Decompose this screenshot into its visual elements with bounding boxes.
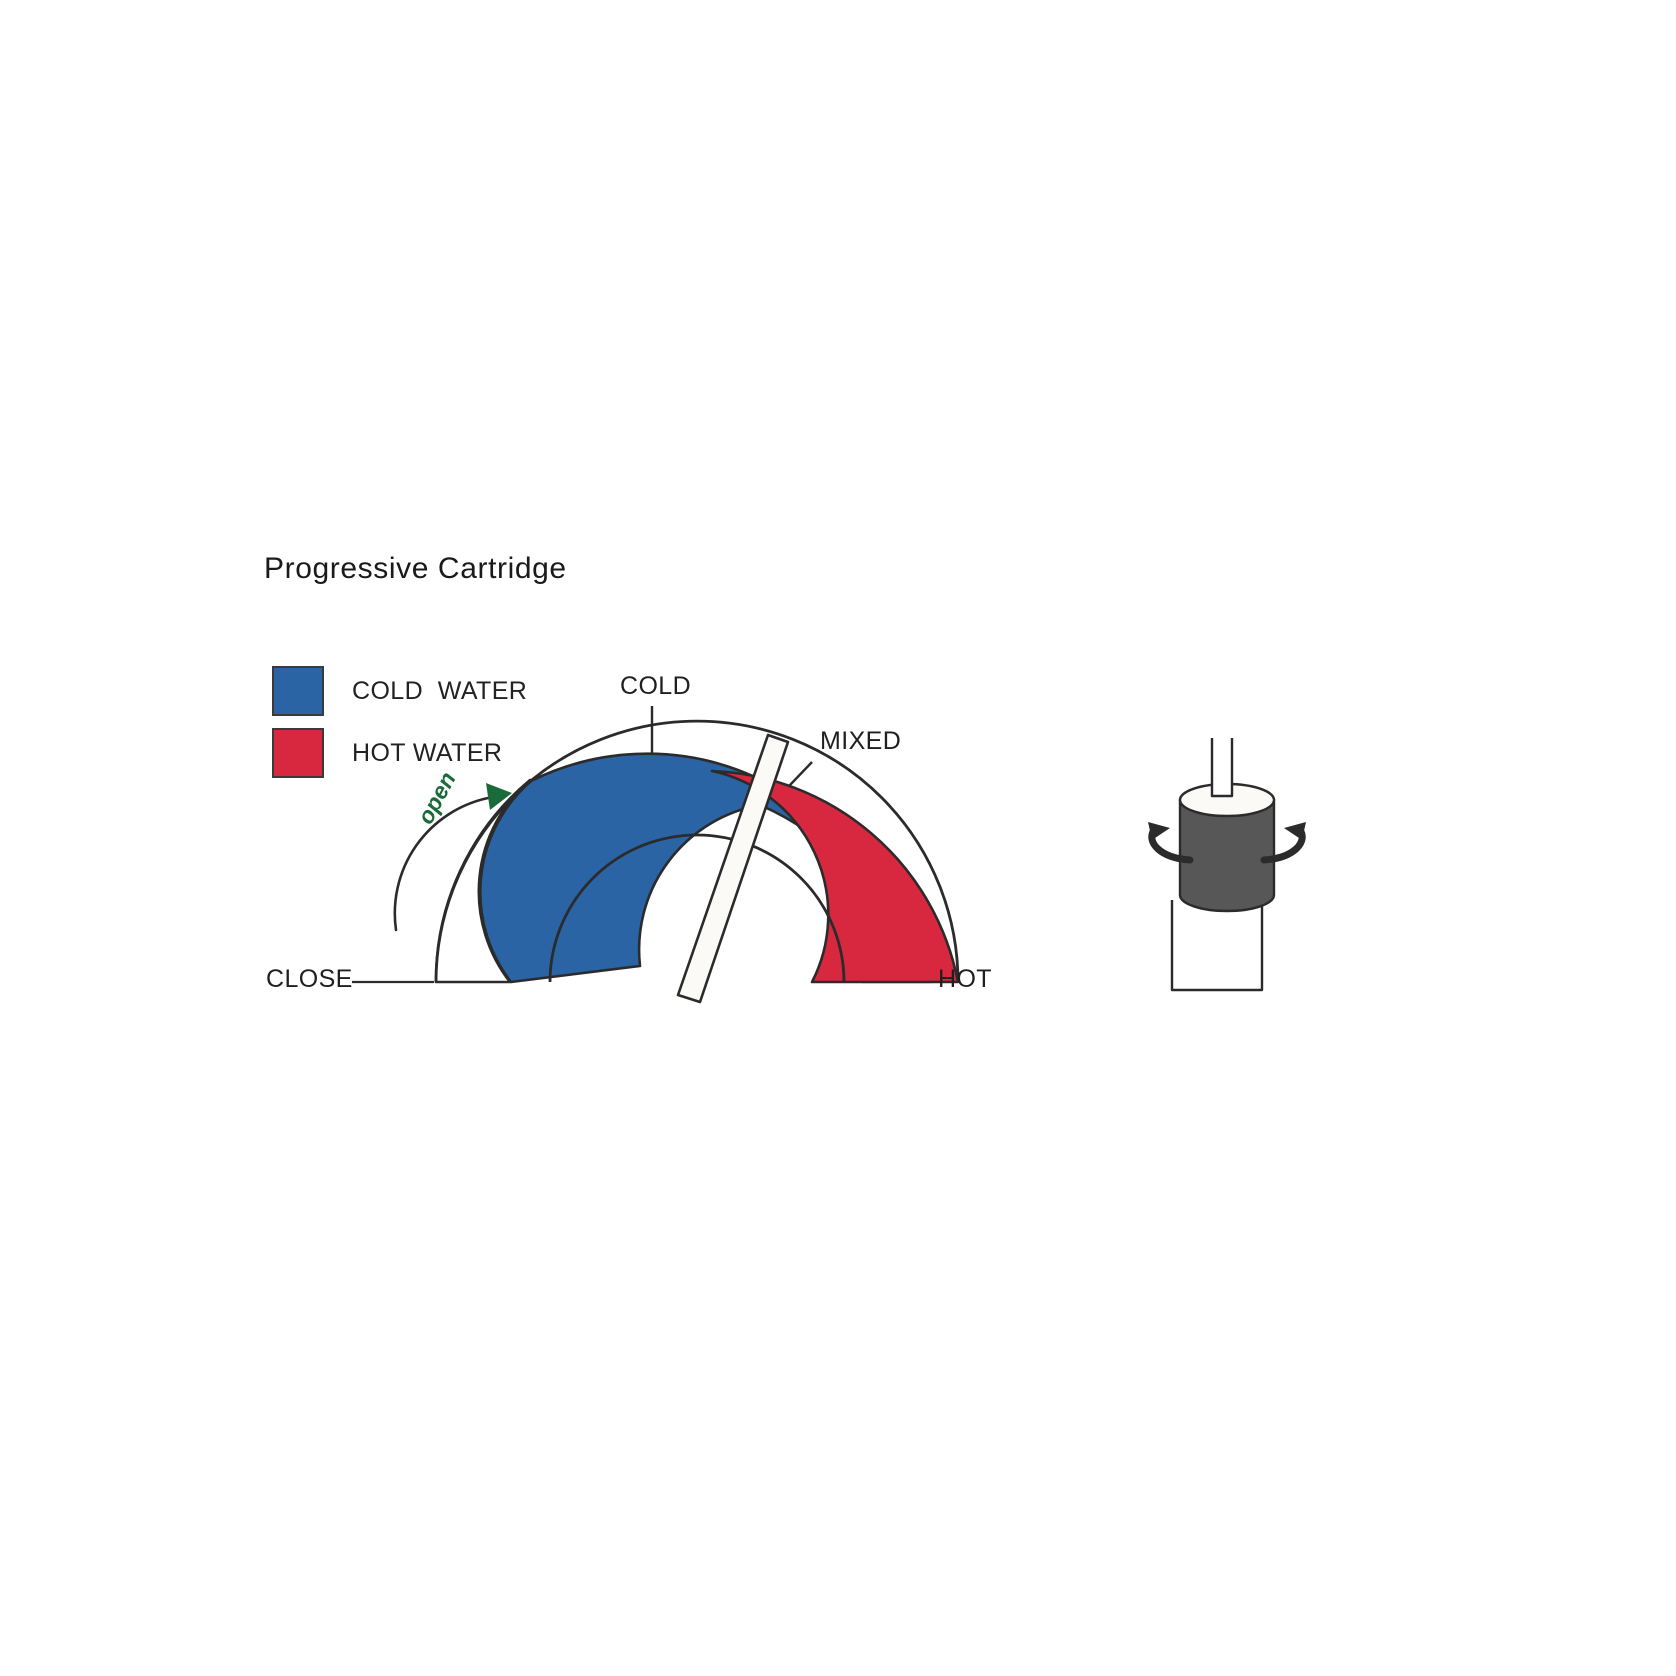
cartridge-stem: [1212, 738, 1232, 796]
cartridge-lower-shaft: [1172, 900, 1262, 990]
cartridge-cylinder-diagram: [0, 0, 1676, 1676]
diagram-canvas: Progressive Cartridge COLD WATER HOT WAT…: [0, 0, 1676, 1676]
